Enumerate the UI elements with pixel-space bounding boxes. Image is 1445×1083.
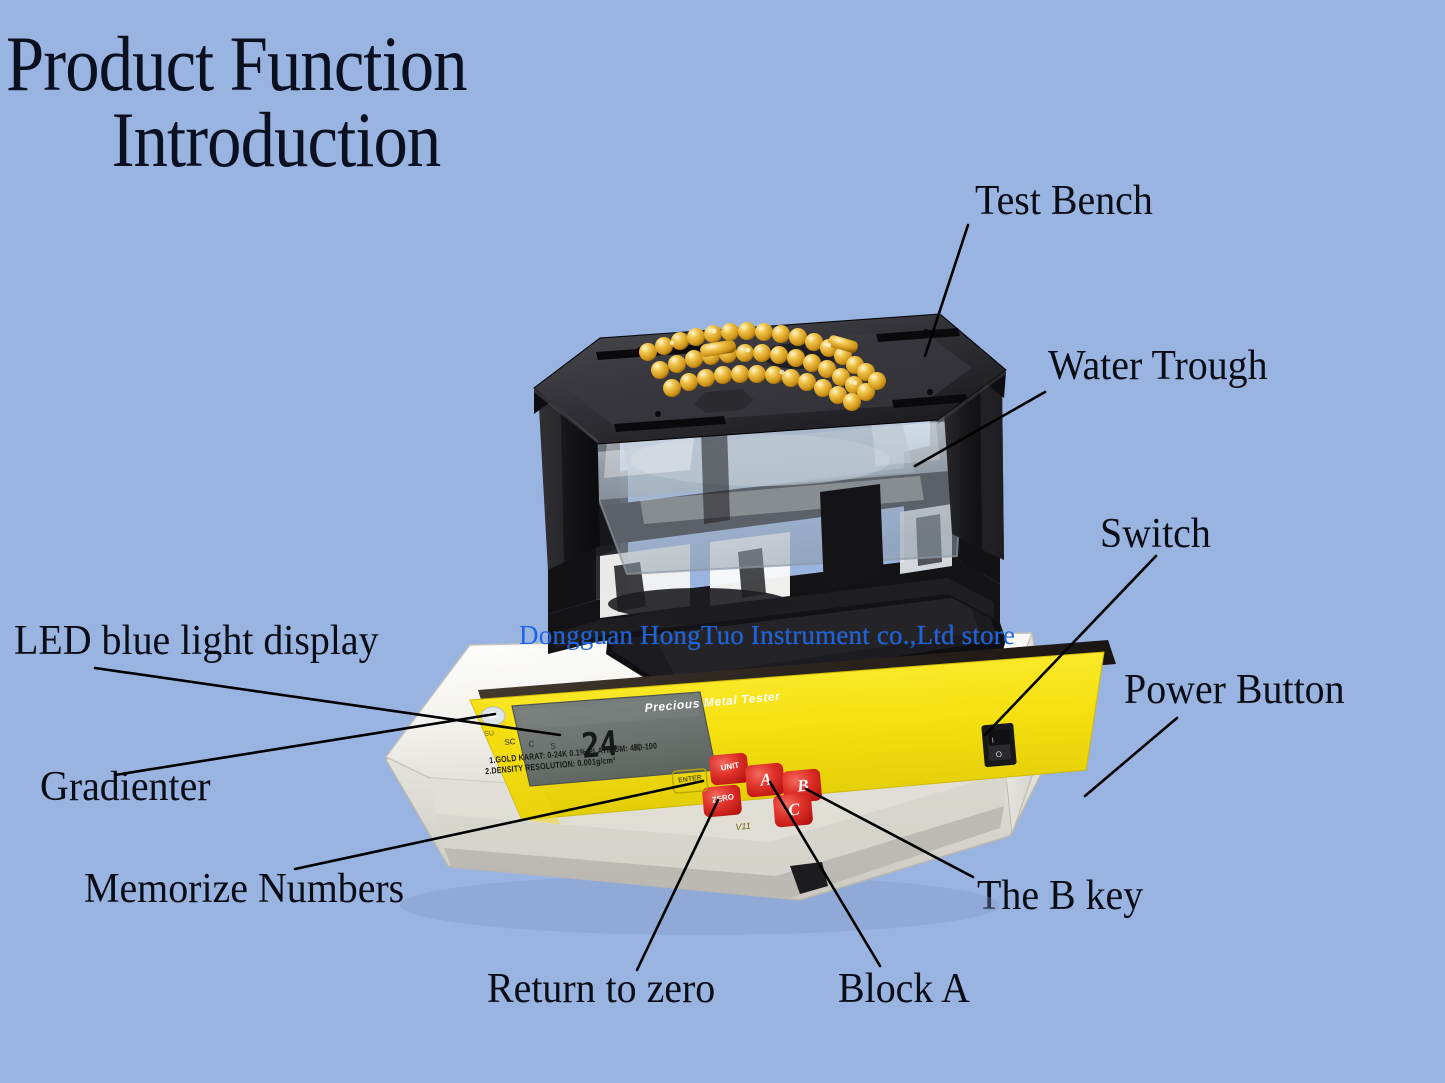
leader-switch bbox=[985, 556, 1156, 735]
leader-led-display bbox=[95, 668, 560, 735]
callout-leader-lines bbox=[0, 0, 1445, 1083]
leader-the-b-key bbox=[806, 789, 973, 877]
leader-gradienter bbox=[115, 714, 495, 775]
leader-block-a bbox=[770, 782, 880, 966]
leader-water-trough bbox=[915, 392, 1045, 466]
leader-return-to-zero bbox=[637, 800, 718, 970]
leader-test-bench bbox=[925, 225, 968, 356]
poster-canvas: Product Function Introduction bbox=[0, 0, 1445, 1083]
leader-power-button bbox=[1085, 718, 1177, 796]
leader-memorize-numbers bbox=[295, 781, 703, 869]
